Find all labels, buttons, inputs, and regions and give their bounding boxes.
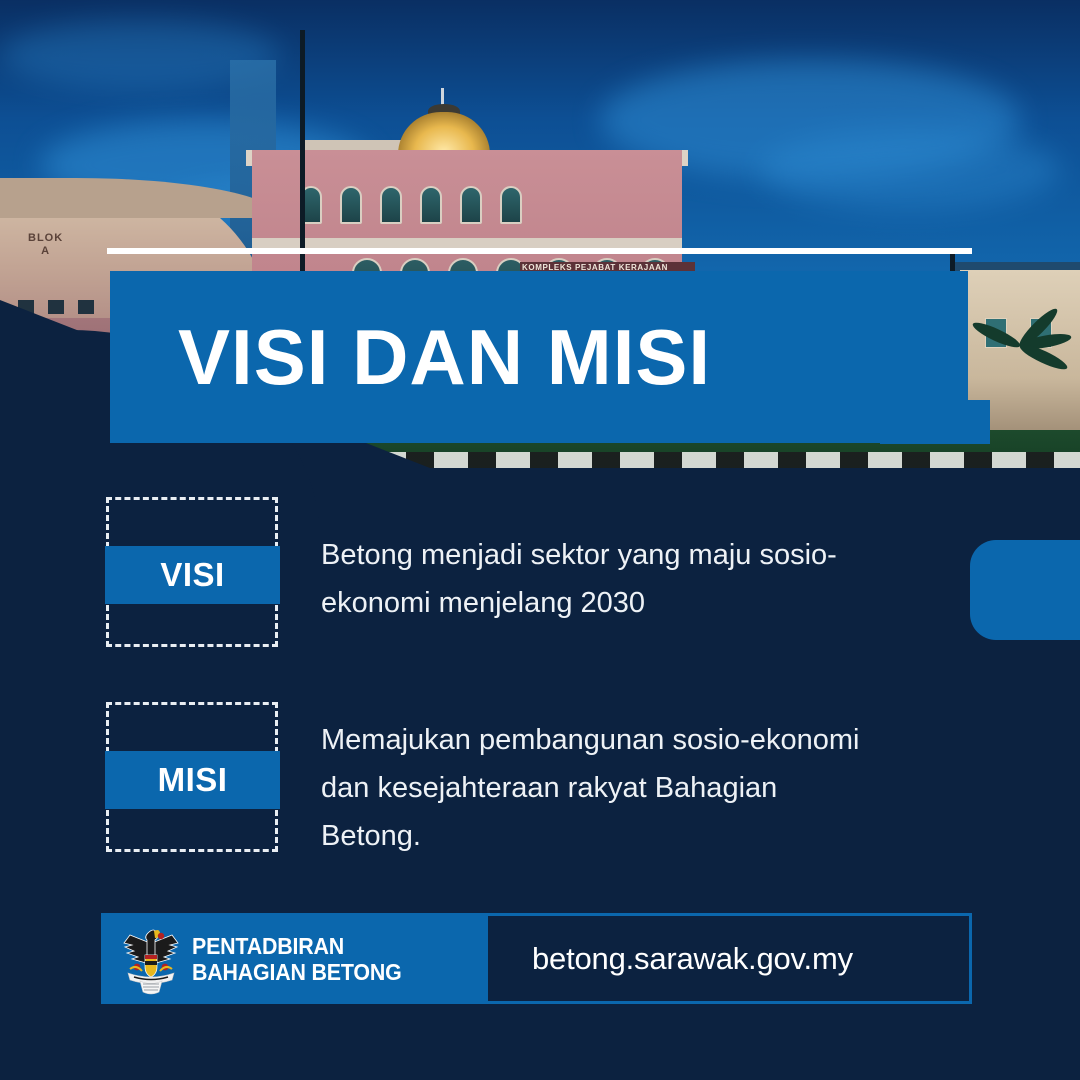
visi-text: Betong menjadi sektor yang maju sosio-ek… [321, 531, 881, 627]
misi-block: MISI Memajukan pembangunan sosio-ekonomi… [106, 702, 881, 860]
blok-a-label: BLOK A [28, 232, 63, 258]
page-title: VISI DAN MISI [178, 318, 711, 396]
left-building-window [48, 300, 64, 314]
left-building-window [78, 300, 94, 314]
visi-tag-label: VISI [160, 556, 224, 594]
misi-text: Memajukan pembangunan sosio-ekonomi dan … [321, 716, 881, 860]
footer-brand: PENTADBIRAN BAHAGIAN BETONG [104, 916, 488, 1001]
title-banner: VISI DAN MISI [110, 271, 968, 443]
footer-url-panel[interactable]: betong.sarawak.gov.my [488, 916, 969, 1001]
website-url[interactable]: betong.sarawak.gov.my [532, 941, 853, 977]
sarawak-coat-of-arms-icon [120, 923, 182, 995]
blok-label-line1: BLOK [28, 232, 63, 244]
footer-brand-line2: BAHAGIAN BETONG [192, 959, 402, 985]
footer-brand-text: PENTADBIRAN BAHAGIAN BETONG [192, 933, 402, 985]
visi-tag-bar: VISI [105, 546, 280, 604]
misi-tag-frame: MISI [106, 702, 278, 852]
header-rule [107, 248, 972, 254]
arched-window [420, 186, 442, 224]
arched-window [380, 186, 402, 224]
arched-window [340, 186, 362, 224]
misi-tag-label: MISI [158, 761, 228, 799]
cloud-shape [760, 130, 1060, 210]
poster: BLOK A KOMPLEKS [0, 0, 1080, 1080]
palm-tree [980, 300, 1070, 390]
accent-shape-right [970, 540, 1080, 640]
footer-brand-line1: PENTADBIRAN [192, 933, 402, 959]
visi-block: VISI Betong menjadi sektor yang maju sos… [106, 497, 881, 647]
arched-window [500, 186, 522, 224]
misi-tag-bar: MISI [105, 751, 280, 809]
footer-bar: PENTADBIRAN BAHAGIAN BETONG betong.saraw… [101, 913, 972, 1004]
blok-label-line2: A [41, 245, 50, 257]
visi-tag-frame: VISI [106, 497, 278, 647]
arched-window [460, 186, 482, 224]
